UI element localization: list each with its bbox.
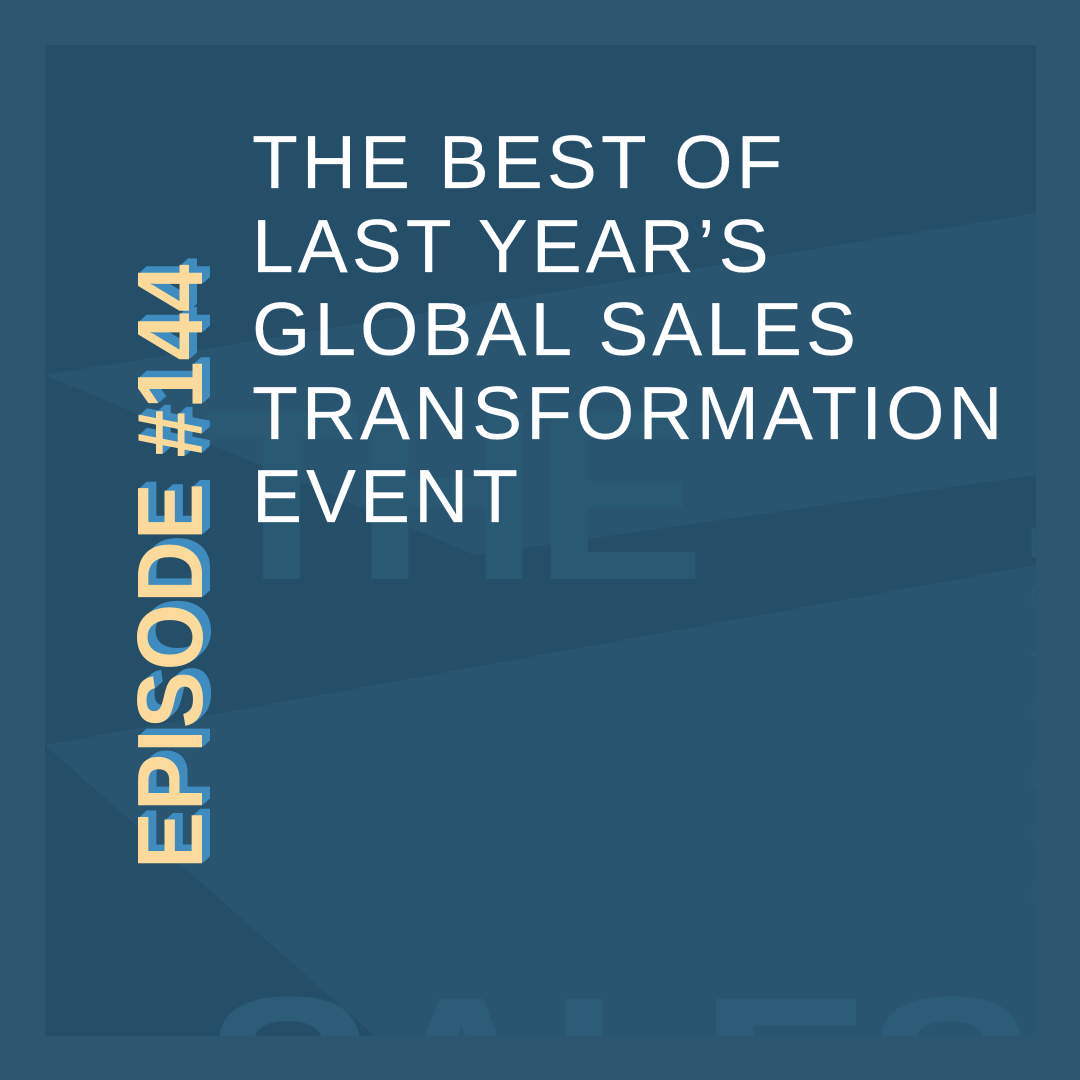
title-line-5: EVENT	[252, 455, 1042, 539]
title-line-2: LAST YEAR’S	[252, 205, 1042, 289]
podcast-cover-canvas: THE SALES TRANS FOR MATION PODCAST EPISO…	[0, 0, 1080, 1080]
title-line-4: TRANSFORMATION	[252, 372, 1042, 456]
title-line-1: THE BEST OF	[252, 121, 1042, 205]
title-line-3: GLOBAL SALES	[252, 288, 1042, 372]
episode-title: THE BEST OF LAST YEAR’S GLOBAL SALES TRA…	[252, 121, 1042, 539]
